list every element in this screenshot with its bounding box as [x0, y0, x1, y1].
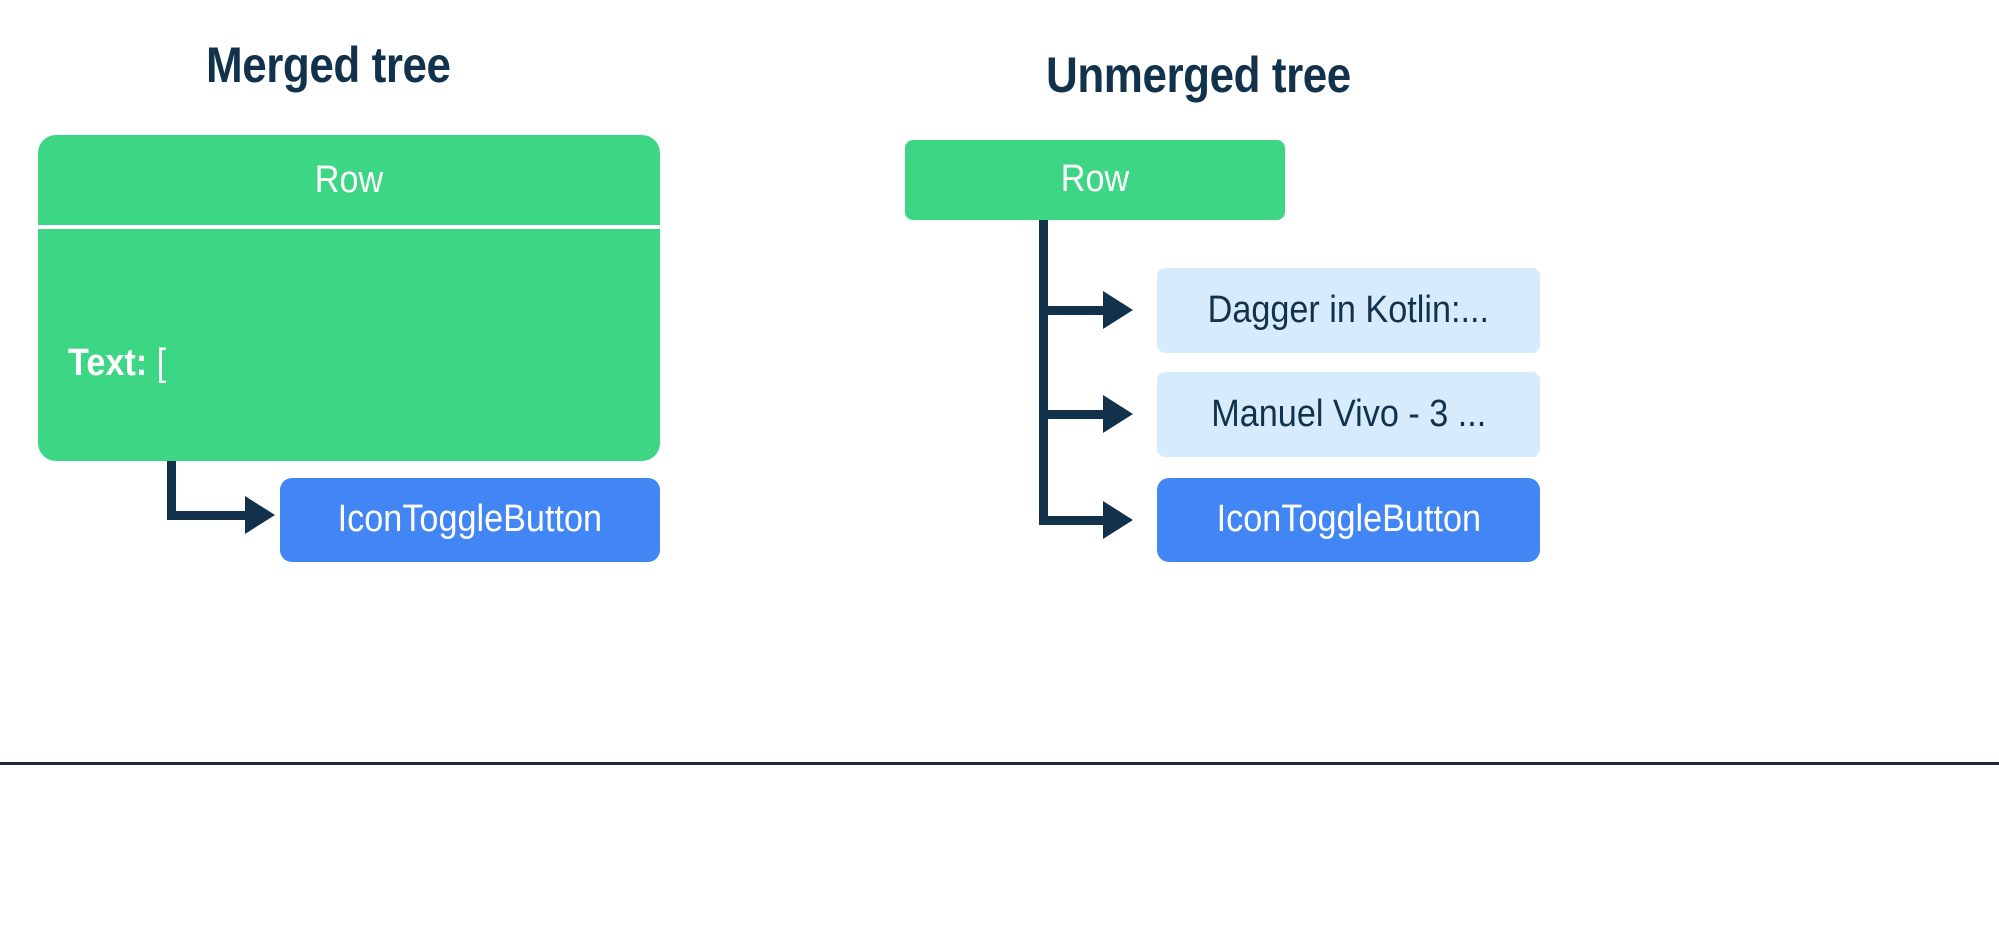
unmerged-branch-3-arrowhead-icon: [1103, 501, 1133, 539]
unmerged-icontogglebutton-label: IconToggleButton: [1216, 499, 1480, 541]
diagram-canvas: Merged tree Unmerged tree Row Text: [ “D…: [0, 0, 1999, 767]
merged-connector-horizontal-line: [167, 511, 249, 520]
merged-row-node-label-wrap: Row: [38, 135, 660, 225]
merged-row-node: Row Text: [ “Dagger in Kotlin:…”, “Manue…: [38, 135, 660, 461]
unmerged-text-node-dagger-label: Dagger in Kotlin:...: [1208, 290, 1489, 332]
semantics-value-1: “Manuel Vivo - 3 …”: [68, 633, 590, 682]
semantics-open-bracket: [: [157, 342, 167, 384]
merged-icontogglebutton-label: IconToggleButton: [338, 499, 602, 541]
unmerged-row-node: Row: [905, 140, 1285, 220]
unmerged-branch-2-arrowhead-icon: [1103, 395, 1133, 433]
unmerged-icontogglebutton-node: IconToggleButton: [1157, 478, 1540, 562]
merged-row-node-label: Row: [315, 159, 383, 202]
unmerged-branch-1-arrowhead-icon: [1103, 291, 1133, 329]
unmerged-row-node-label: Row: [1061, 159, 1129, 201]
merged-row-node-semantics: Text: [ “Dagger in Kotlin:…”, “Manuel Vi…: [68, 241, 648, 927]
unmerged-connector-trunk-line: [1039, 220, 1048, 522]
semantics-key: Text:: [68, 342, 147, 384]
unmerged-text-node-dagger: Dagger in Kotlin:...: [1157, 268, 1540, 353]
semantics-value-1-text: “Manuel Vivo - 3 …”: [97, 636, 400, 678]
bottom-divider-rule: [0, 762, 1999, 765]
unmerged-text-node-manuel: Manuel Vivo - 3 ...: [1157, 372, 1540, 457]
unmerged-text-node-manuel-label: Manuel Vivo - 3 ...: [1211, 394, 1486, 436]
semantics-close-bracket: ]: [68, 780, 590, 829]
semantics-line-open: Text: [: [68, 339, 590, 388]
merged-connector-arrowhead-icon: [245, 496, 275, 534]
unmerged-branch-1-line: [1039, 306, 1107, 315]
unmerged-tree-title: Unmerged tree: [1046, 50, 1351, 100]
merged-tree-title: Merged tree: [206, 40, 451, 90]
unmerged-branch-3-line: [1039, 516, 1107, 525]
merged-row-node-divider: [38, 225, 660, 229]
unmerged-branch-2-line: [1039, 410, 1107, 419]
merged-icontogglebutton-node: IconToggleButton: [280, 478, 660, 562]
